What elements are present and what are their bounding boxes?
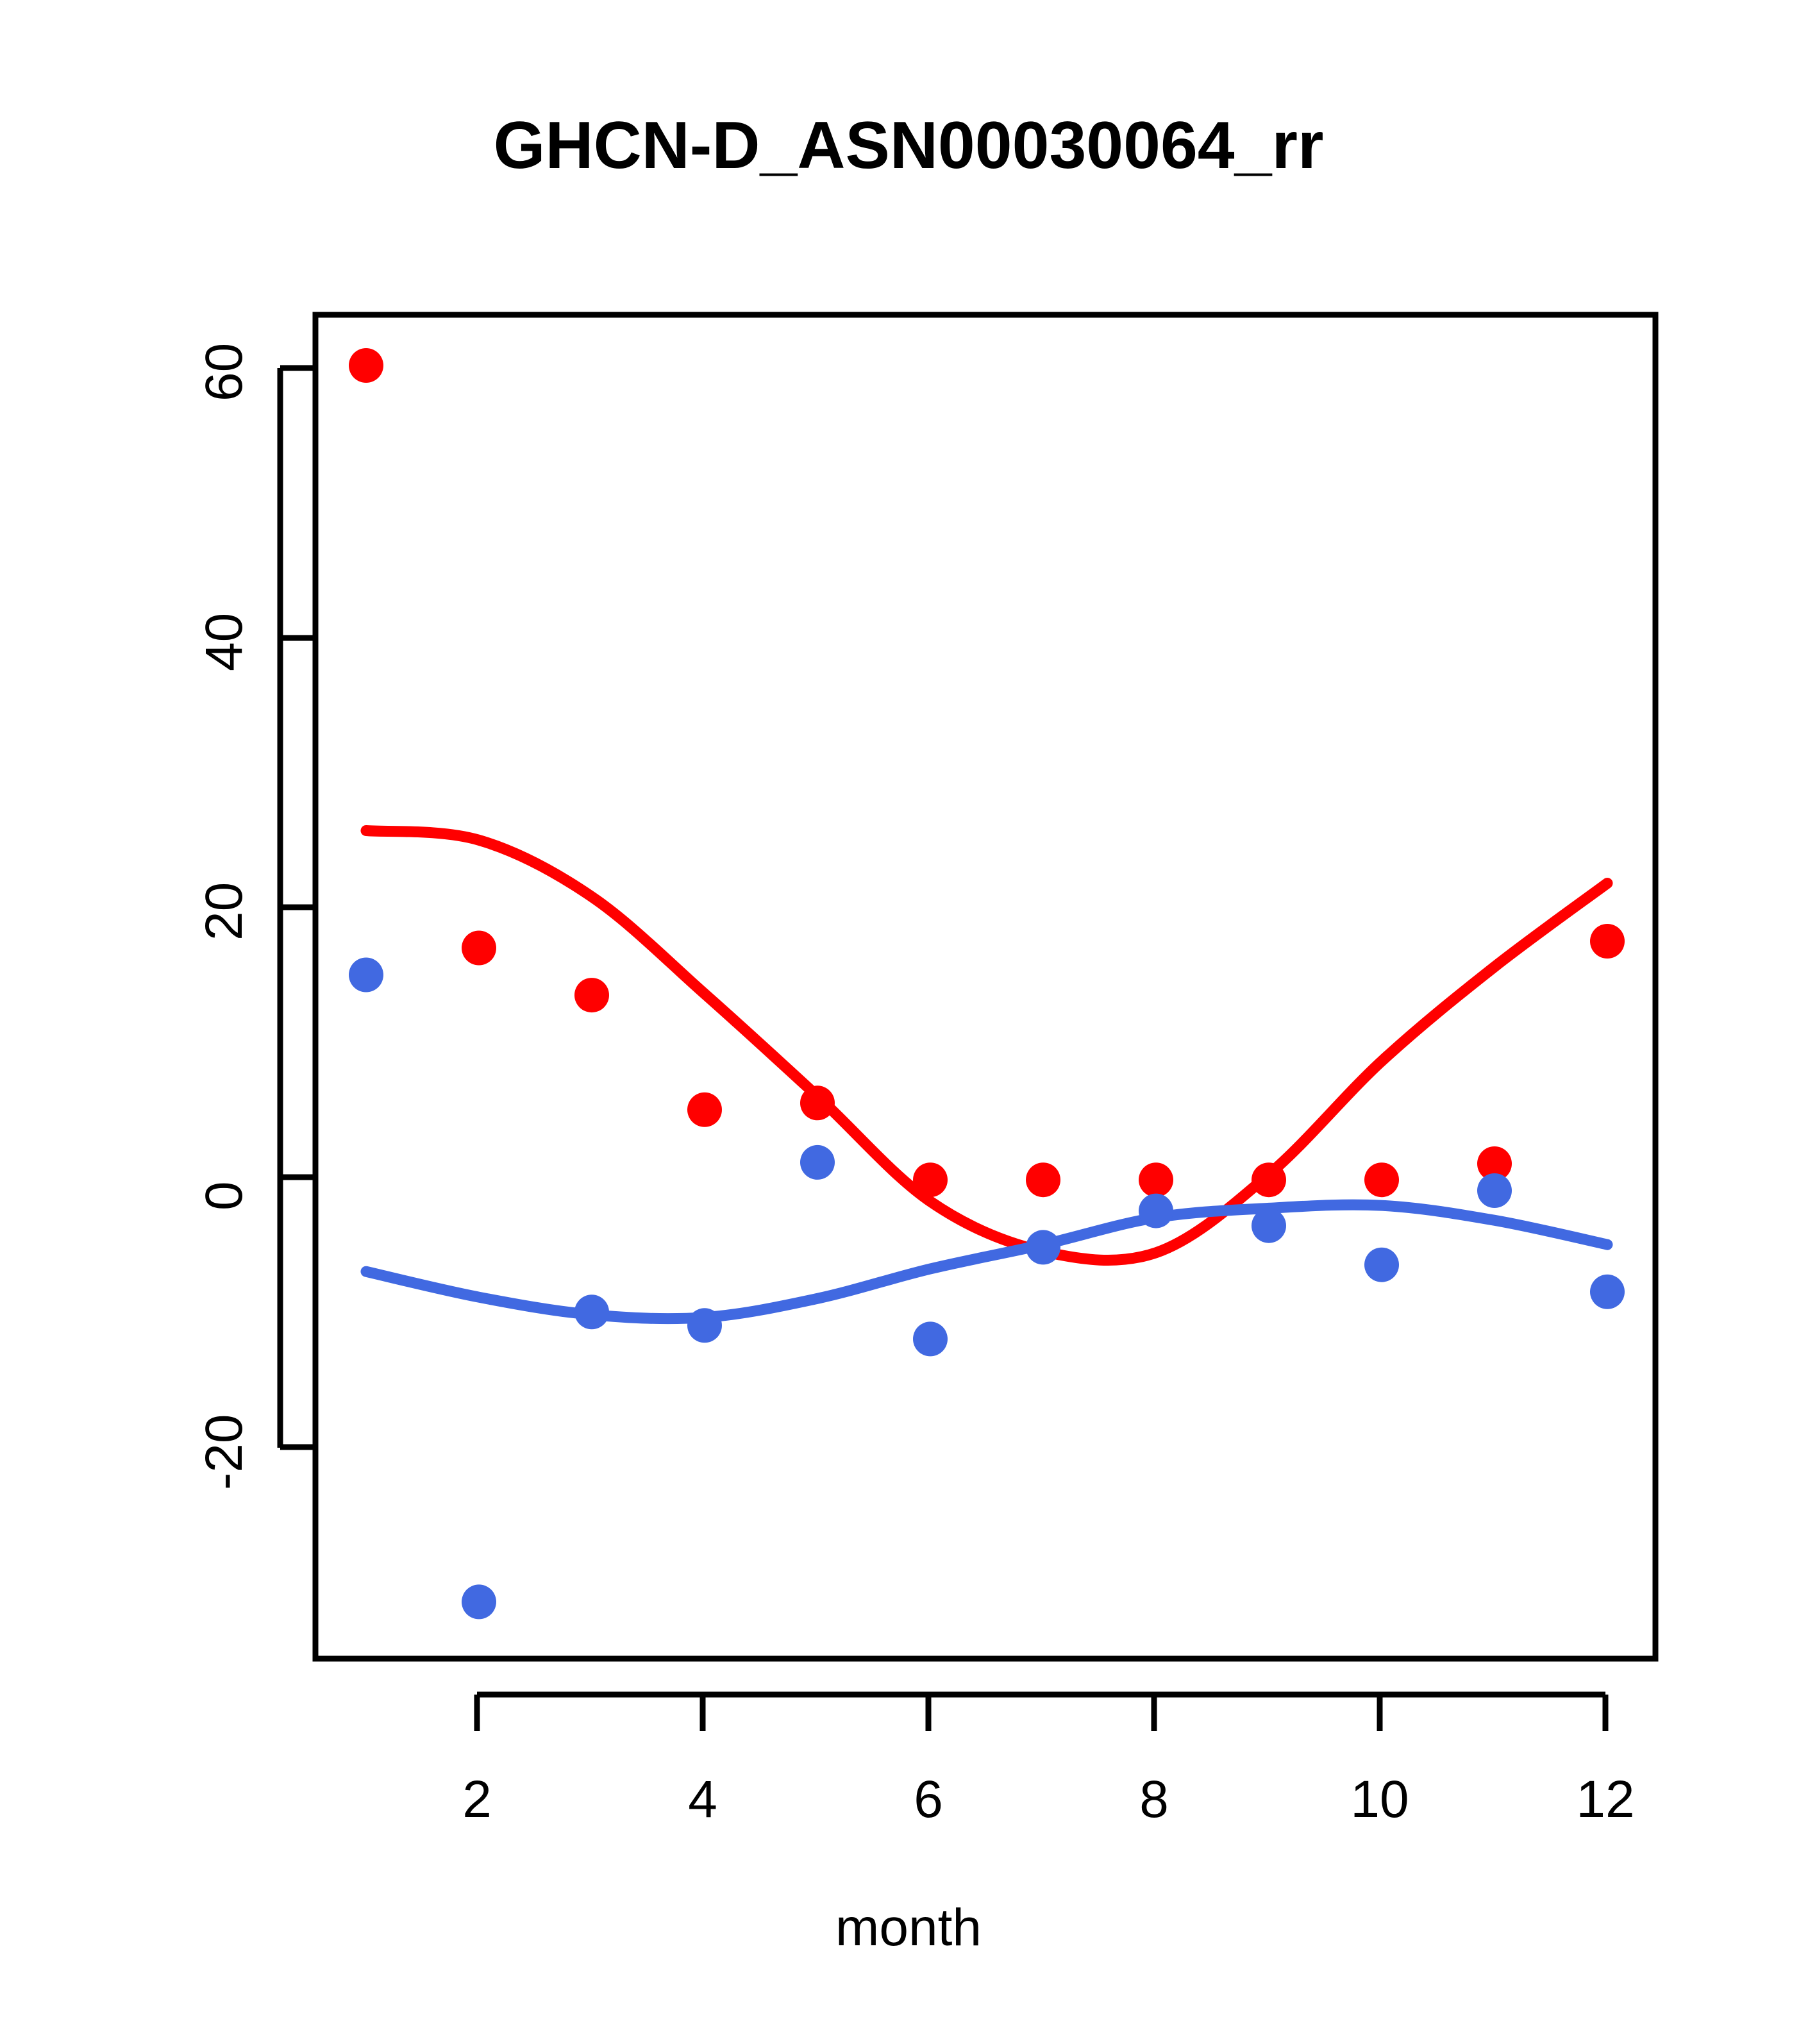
- data-point: [1252, 1162, 1286, 1197]
- data-point: [913, 1321, 948, 1356]
- x-tick-label-2: 2: [432, 1770, 522, 1830]
- plot-box: [315, 315, 1655, 1659]
- data-point: [687, 1308, 722, 1343]
- data-point: [1590, 924, 1625, 959]
- y-tick-label-0: 0: [194, 1153, 255, 1210]
- x-tick-label-4: 4: [658, 1770, 748, 1830]
- chart-canvas: GHCN-D_ASN00030064_rr 60 4: [0, 0, 1817, 2044]
- x-axis-label: month: [0, 1898, 1817, 1958]
- data-point: [574, 1294, 609, 1329]
- x-tick-label-10: 10: [1335, 1770, 1425, 1830]
- data-point: [800, 1145, 835, 1180]
- x-tick-label-6: 6: [883, 1770, 973, 1830]
- x-tick-label-8: 8: [1109, 1770, 1199, 1830]
- plot-svg: [0, 0, 1817, 2044]
- red-data-points: [349, 348, 1625, 1197]
- y-tick-label-neg20: -20: [194, 1413, 255, 1490]
- x-axis: [477, 1695, 1605, 1731]
- data-point: [800, 1085, 835, 1120]
- red-trend-line: [366, 831, 1607, 1261]
- data-point: [462, 931, 496, 966]
- data-point: [913, 1162, 948, 1197]
- blue-data-points: [349, 958, 1625, 1620]
- y-tick-label-60: 60: [194, 344, 255, 401]
- x-tick-label-12: 12: [1561, 1770, 1650, 1830]
- data-point: [1026, 1230, 1060, 1264]
- data-point: [1139, 1194, 1173, 1228]
- y-tick-label-40: 40: [194, 614, 255, 671]
- data-point: [1139, 1162, 1173, 1197]
- data-point: [462, 1584, 496, 1619]
- data-point: [1252, 1209, 1286, 1243]
- blue-smooth-line: [366, 1205, 1607, 1319]
- data-point: [1364, 1162, 1399, 1197]
- blue-trend-line: [366, 1205, 1607, 1319]
- data-point: [1364, 1248, 1399, 1282]
- data-point: [1477, 1173, 1512, 1208]
- red-smooth-line: [366, 831, 1607, 1261]
- data-point: [1026, 1162, 1060, 1197]
- data-point: [349, 348, 383, 383]
- data-point: [687, 1093, 722, 1127]
- y-tick-label-20: 20: [194, 883, 255, 941]
- data-point: [574, 978, 609, 1012]
- data-point: [349, 958, 383, 993]
- data-point: [1590, 1275, 1625, 1309]
- y-axis: [280, 368, 315, 1448]
